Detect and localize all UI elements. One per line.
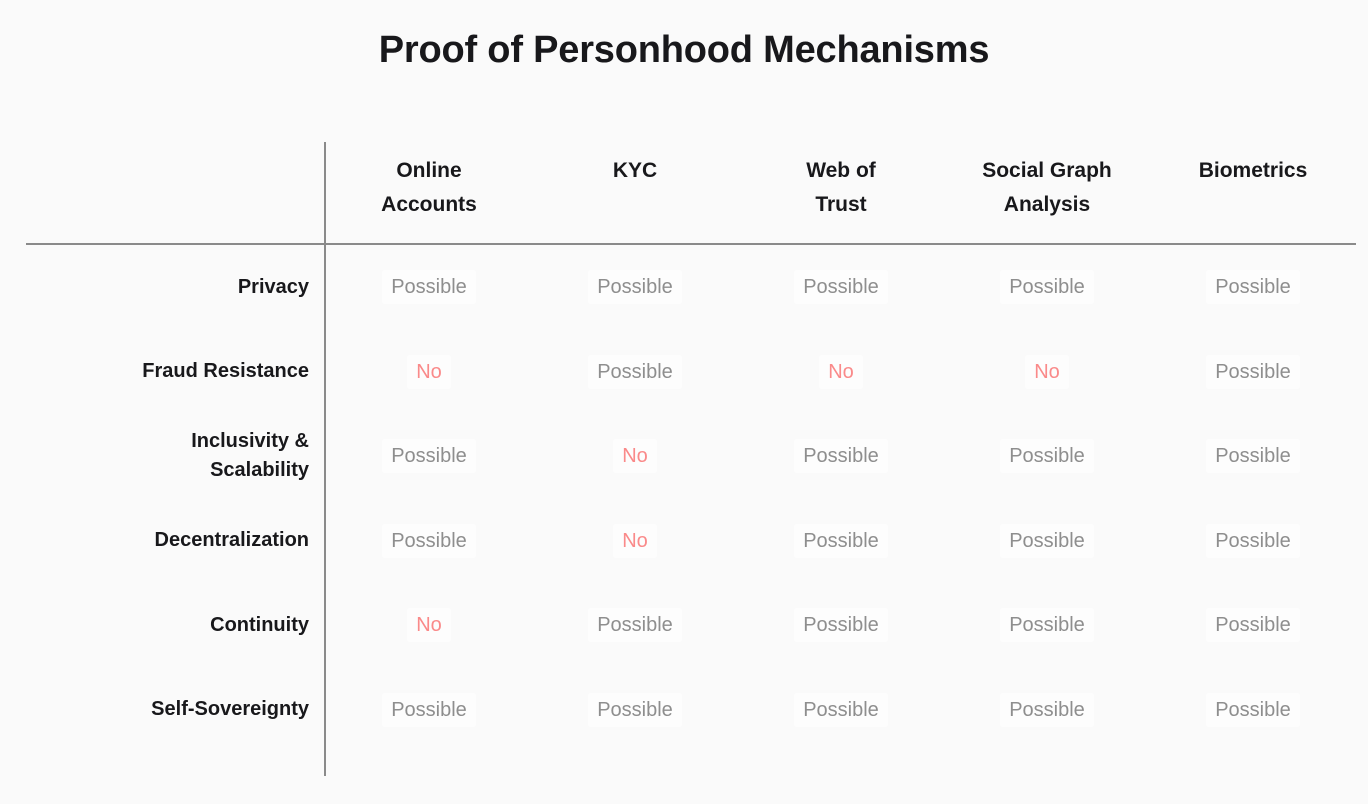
cell-value: No [819,355,863,389]
cell-self-sovereignty-biometrics: Possible [1150,668,1356,753]
matrix-header-row: Online AccountsKYCWeb of TrustSocial Gra… [26,142,1356,243]
row-cell-group: NoPossibleNoNoPossible [324,330,1356,415]
column-header-online-accounts: Online Accounts [326,142,532,243]
cell-inclusivity-scalability-kyc: No [532,414,738,499]
cell-value: Possible [1000,270,1094,304]
row-cell-group: PossibleNoPossiblePossiblePossible [324,414,1356,499]
row-label-decentralization: Decentralization [26,526,324,555]
cell-self-sovereignty-web-of-trust: Possible [738,668,944,753]
cell-value: Possible [1000,693,1094,727]
cell-value: Possible [1206,439,1300,473]
cell-inclusivity-scalability-social-graph-analysis: Possible [944,414,1150,499]
cell-value: Possible [1000,439,1094,473]
cell-inclusivity-scalability-web-of-trust: Possible [738,414,944,499]
cell-value: Possible [794,270,888,304]
matrix-corner-stub [26,142,324,243]
cell-self-sovereignty-kyc: Possible [532,668,738,753]
row-label-privacy: Privacy [26,273,324,302]
cell-inclusivity-scalability-biometrics: Possible [1150,414,1356,499]
cell-value: Possible [382,270,476,304]
cell-decentralization-biometrics: Possible [1150,499,1356,584]
cell-value: Possible [1000,608,1094,642]
row-label-continuity: Continuity [26,611,324,640]
column-header-web-of-trust: Web of Trust [738,142,944,243]
cell-fraud-resistance-biometrics: Possible [1150,330,1356,415]
comparison-matrix: Online AccountsKYCWeb of TrustSocial Gra… [26,142,1356,776]
row-cell-group: PossiblePossiblePossiblePossiblePossible [324,245,1356,330]
cell-inclusivity-scalability-online-accounts: Possible [326,414,532,499]
cell-value: No [613,524,657,558]
cell-continuity-social-graph-analysis: Possible [944,583,1150,668]
cell-decentralization-online-accounts: Possible [326,499,532,584]
cell-value: Possible [1000,524,1094,558]
cell-privacy-biometrics: Possible [1150,245,1356,330]
column-header-biometrics: Biometrics [1150,142,1356,243]
cell-privacy-web-of-trust: Possible [738,245,944,330]
cell-fraud-resistance-online-accounts: No [326,330,532,415]
cell-value: No [407,608,451,642]
cell-value: Possible [794,524,888,558]
table-row: Self-SovereigntyPossiblePossiblePossible… [26,668,1356,753]
cell-decentralization-social-graph-analysis: Possible [944,499,1150,584]
cell-value: No [613,439,657,473]
row-label-inclusivity-scalability: Inclusivity & Scalability [26,427,324,485]
row-cell-group: PossiblePossiblePossiblePossiblePossible [324,668,1356,753]
infographic-page: Proof of Personhood Mechanisms Online Ac… [0,0,1368,804]
cell-value: No [1025,355,1069,389]
cell-value: Possible [382,524,476,558]
row-cell-group: NoPossiblePossiblePossiblePossible [324,583,1356,668]
table-row: Inclusivity & ScalabilityPossibleNoPossi… [26,414,1356,499]
column-header-social-graph-analysis: Social Graph Analysis [944,142,1150,243]
cell-decentralization-kyc: No [532,499,738,584]
cell-value: Possible [1206,270,1300,304]
cell-value: Possible [794,439,888,473]
cell-continuity-kyc: Possible [532,583,738,668]
table-row: ContinuityNoPossiblePossiblePossiblePoss… [26,583,1356,668]
cell-value: Possible [794,608,888,642]
row-label-fraud-resistance: Fraud Resistance [26,357,324,386]
cell-value: Possible [1206,355,1300,389]
table-row: PrivacyPossiblePossiblePossiblePossibleP… [26,245,1356,330]
cell-value: Possible [1206,693,1300,727]
cell-continuity-web-of-trust: Possible [738,583,944,668]
cell-value: Possible [588,693,682,727]
table-row: Fraud ResistanceNoPossibleNoNoPossible [26,330,1356,415]
cell-value: Possible [1206,524,1300,558]
cell-fraud-resistance-social-graph-analysis: No [944,330,1150,415]
matrix-body: PrivacyPossiblePossiblePossiblePossibleP… [26,245,1356,776]
cell-value: Possible [588,608,682,642]
row-cell-group: PossibleNoPossiblePossiblePossible [324,499,1356,584]
row-label-self-sovereignty: Self-Sovereignty [26,695,324,724]
cell-value: Possible [588,270,682,304]
cell-fraud-resistance-kyc: Possible [532,330,738,415]
cell-privacy-kyc: Possible [532,245,738,330]
cell-value: Possible [588,355,682,389]
cell-value: Possible [382,693,476,727]
cell-value: No [407,355,451,389]
cell-privacy-social-graph-analysis: Possible [944,245,1150,330]
cell-value: Possible [1206,608,1300,642]
cell-fraud-resistance-web-of-trust: No [738,330,944,415]
cell-value: Possible [382,439,476,473]
column-header-group: Online AccountsKYCWeb of TrustSocial Gra… [324,142,1356,243]
column-header-kyc: KYC [532,142,738,243]
table-row: DecentralizationPossibleNoPossiblePossib… [26,499,1356,584]
cell-privacy-online-accounts: Possible [326,245,532,330]
cell-self-sovereignty-social-graph-analysis: Possible [944,668,1150,753]
page-title: Proof of Personhood Mechanisms [0,24,1368,76]
cell-value: Possible [794,693,888,727]
cell-continuity-biometrics: Possible [1150,583,1356,668]
cell-self-sovereignty-online-accounts: Possible [326,668,532,753]
cell-decentralization-web-of-trust: Possible [738,499,944,584]
cell-continuity-online-accounts: No [326,583,532,668]
